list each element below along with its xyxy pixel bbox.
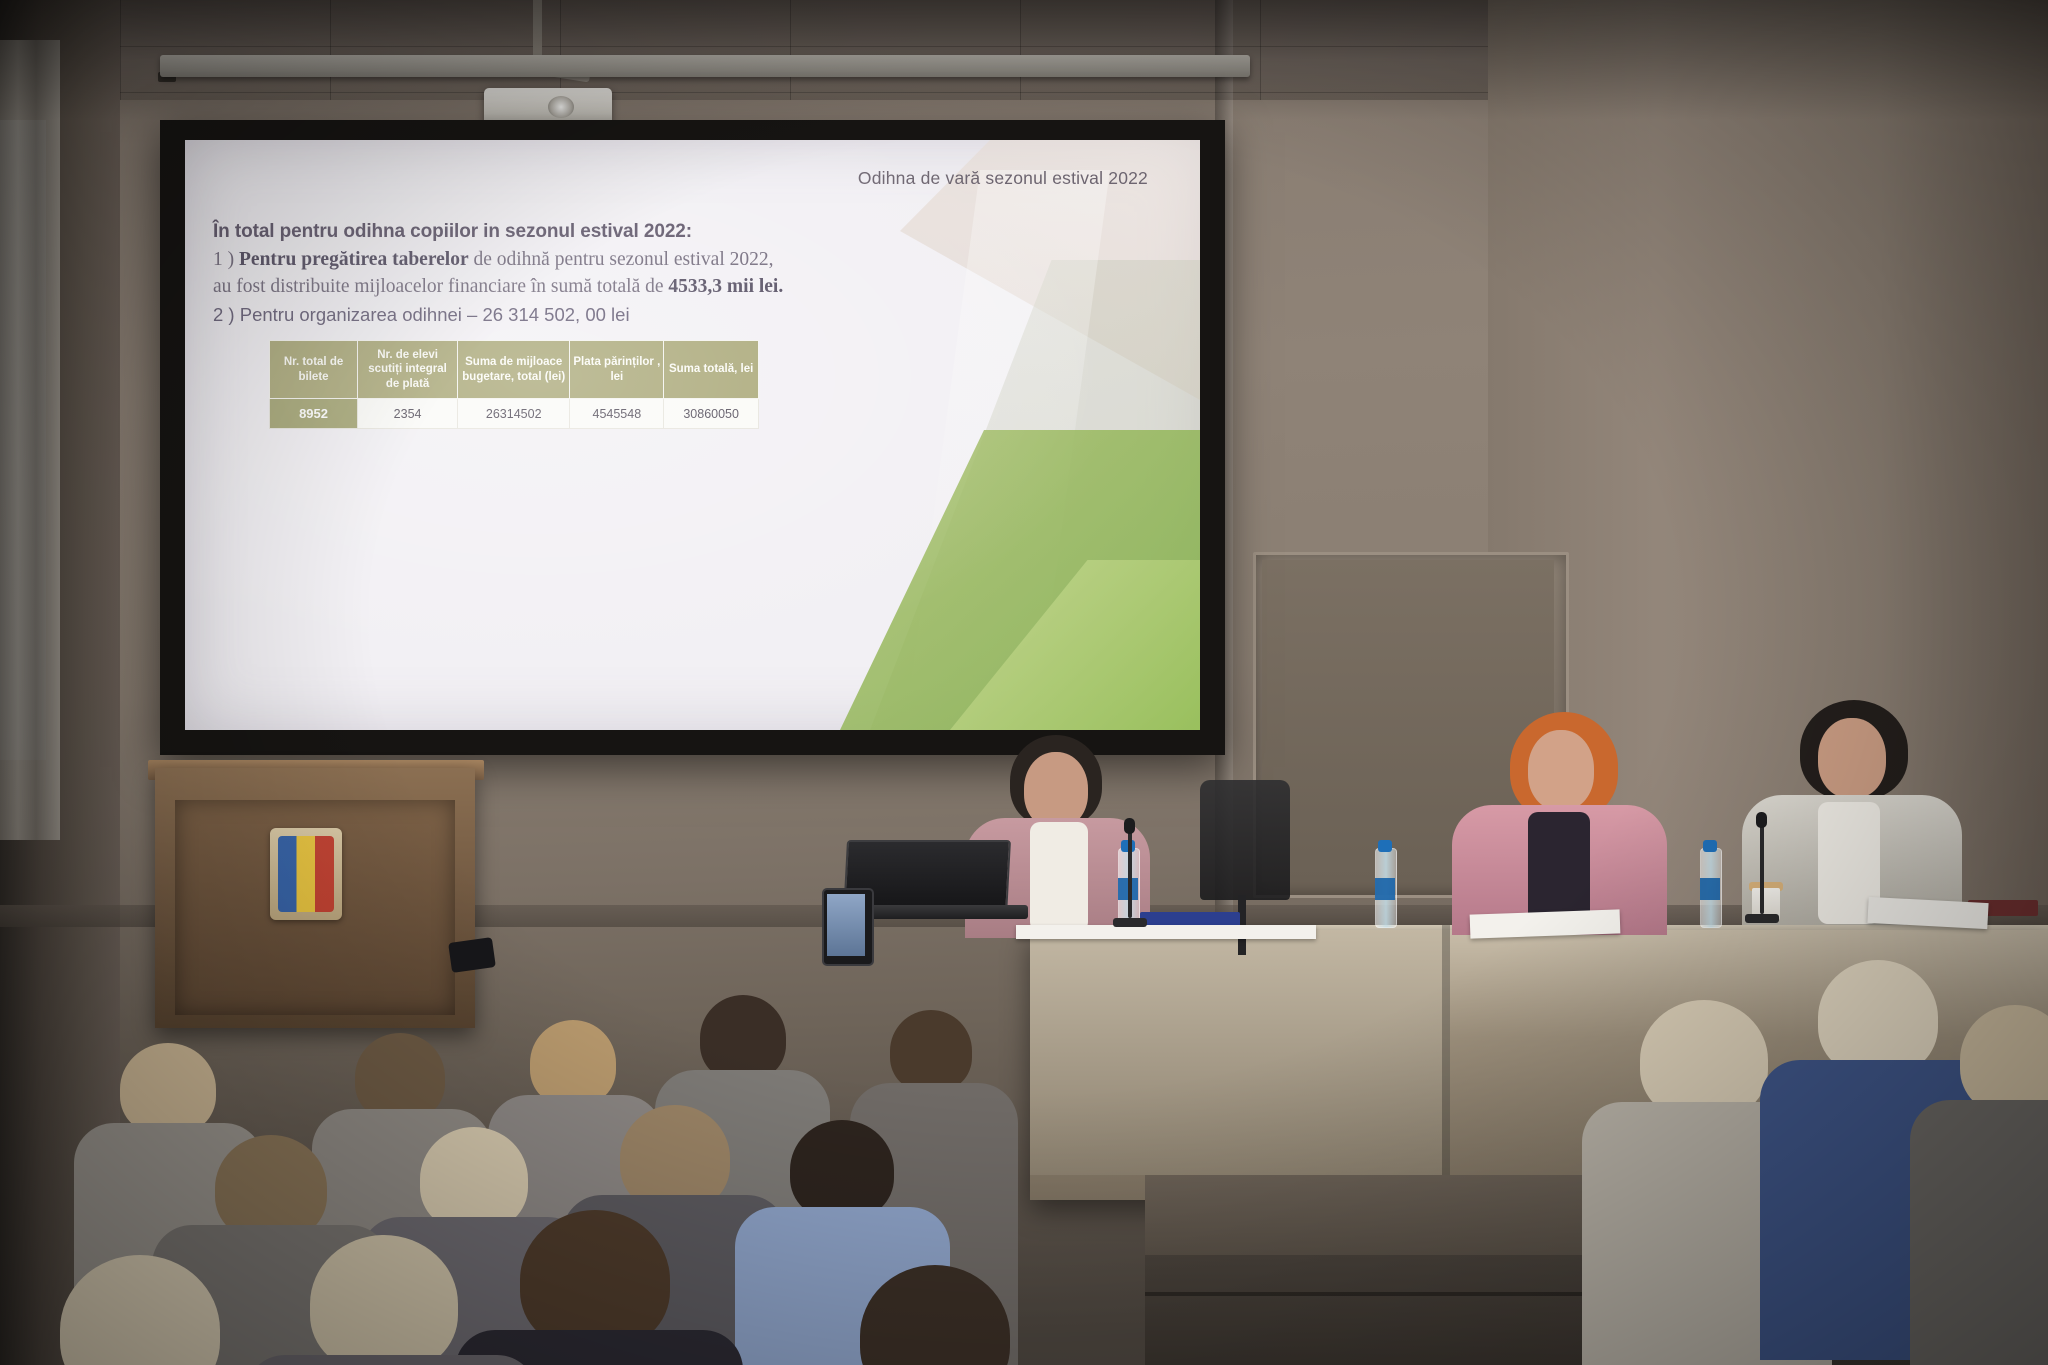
table-header-cell: Suma de mijloace bugetare, total (lei) [458, 341, 570, 399]
speaker-right-head [1818, 718, 1886, 798]
table-header-cell: Nr. de elevi scutiți integral de plată [358, 341, 458, 399]
slide-line-1-rest: de odihnă pentru sezonul estival 2022, [469, 249, 774, 270]
bottle-cap [1703, 840, 1717, 852]
microphone-base [1745, 914, 1779, 923]
table-header-row: Nr. total de bilete Nr. de elevi scutiți… [270, 341, 759, 399]
slide-line-2-start: au fost distribuite mijloacelor financia… [213, 276, 668, 297]
projection-screen: Odihna de vară sezonul estival 2022 În t… [185, 140, 1200, 730]
bottle-cap [1378, 840, 1392, 852]
slide-line-1: 1 ) Pentru pregătirea taberelor de odihn… [213, 246, 953, 274]
audience-head [890, 1010, 972, 1092]
table-header-cell: Plata părinților , lei [570, 341, 664, 399]
conference-room-scene: Odihna de vară sezonul estival 2022 În t… [0, 0, 2048, 1365]
slide-table: Nr. total de bilete Nr. de elevi scutiți… [269, 340, 759, 429]
phone-screen [827, 894, 865, 956]
audience-area [0, 665, 1180, 1365]
table-cell-budget-funds: 26314502 [458, 399, 570, 429]
audience-head [355, 1033, 445, 1121]
slide-line-3: 2 ) Pentru organizarea odihnei – 26 314 … [213, 301, 953, 329]
audience-head [700, 995, 786, 1081]
microphone-stem [1760, 822, 1764, 914]
audience-body [1910, 1100, 2048, 1365]
audience-head [310, 1235, 458, 1365]
table-cell-parent-payment: 4545548 [570, 399, 664, 429]
audience-head [790, 1120, 894, 1220]
presidium-table-seam [1442, 925, 1450, 1175]
audience-body [245, 1355, 537, 1365]
table-header-cell: Suma totală, lei [664, 341, 759, 399]
screen-roller [160, 55, 1250, 77]
projector-lens-icon [548, 96, 574, 118]
slide-body: În total pentru odihna copiilor in sezon… [213, 218, 953, 329]
audience-head [120, 1043, 216, 1135]
table-cell-grand-total: 30860050 [664, 399, 759, 429]
microphone-head-icon [1756, 812, 1767, 828]
bottle-label [1375, 878, 1395, 900]
office-chair [1200, 780, 1290, 900]
smartphone[interactable] [448, 937, 496, 973]
audience-head [530, 1020, 616, 1106]
slide-line-1-bold: Pentru pregătirea taberelor [239, 249, 469, 270]
audience-head [420, 1127, 528, 1231]
table-cell-total-tickets: 8952 [270, 399, 358, 429]
table-cell-exempt-students: 2354 [358, 399, 458, 429]
bottle-label [1700, 878, 1720, 900]
slide-line-2: au fost distribuite mijloacelor financia… [213, 273, 953, 301]
slide-header: Odihna de vară sezonul estival 2022 [858, 168, 1148, 189]
audience-head [1818, 960, 1938, 1076]
slide-line-1-prefix: 1 ) [213, 249, 239, 270]
speaker-center-head [1528, 730, 1594, 810]
table-row: 8952 2354 26314502 4545548 30860050 [270, 399, 759, 429]
table-header-cell: Nr. total de bilete [270, 341, 358, 399]
audience-head [520, 1210, 670, 1350]
slide-line-2-bold: 4533,3 mii lei. [668, 276, 783, 297]
slide-title: În total pentru odihna copiilor in sezon… [213, 218, 953, 246]
